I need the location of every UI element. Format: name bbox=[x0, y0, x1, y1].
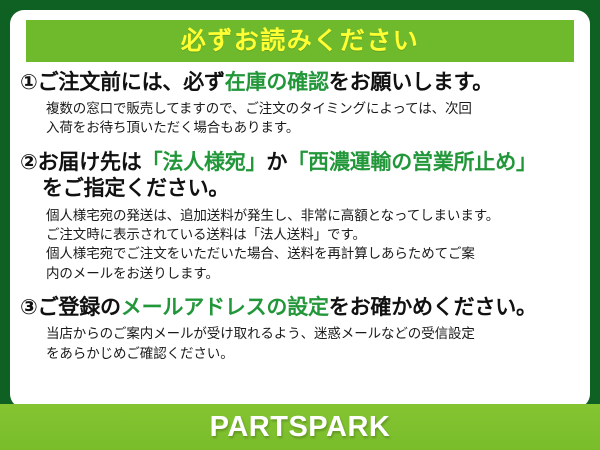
section-3-body: 当店からのご案内メールが受け取れるよう、迷惑メールなどの受信設定 をあらかじめご… bbox=[20, 324, 582, 362]
section-1-heading-highlight: 在庫の確認 bbox=[225, 71, 329, 94]
section-2-body: 個人様宅宛の発送は、追加送料が発生し、非常に高額となってしまいます。 ご注文時に… bbox=[20, 206, 582, 283]
section-1-heading-part-3: をお願いします。 bbox=[329, 71, 493, 94]
notice-banner: 必ずお読みください ①ご注文前には、必ず在庫の確認をお願いします。 複数の窓口で… bbox=[0, 0, 600, 450]
section-1-body: 複数の窓口で販売してますので、ご注文のタイミングによっては、次回 入荷をお待ち頂… bbox=[20, 99, 582, 137]
section-3-heading-highlight: メールアドレスの設定 bbox=[121, 296, 329, 319]
section-1-heading: ①ご注文前には、必ず在庫の確認をお願いします。 bbox=[20, 70, 582, 96]
brand-name: PARTSPARK bbox=[210, 411, 391, 444]
notice-card: 必ずお読みください ①ご注文前には、必ず在庫の確認をお願いします。 複数の窓口で… bbox=[10, 10, 590, 408]
brand-footer: PARTSPARK bbox=[0, 404, 600, 450]
notice-content: ①ご注文前には、必ず在庫の確認をお願いします。 複数の窓口で販売してますので、ご… bbox=[10, 68, 590, 365]
section-2-heading-highlight-1: 「法人様宛」 bbox=[142, 151, 267, 174]
notice-title-bar: 必ずお読みください bbox=[26, 20, 574, 62]
section-2-heading-highlight-2: 「西濃運輸の営業所止め」 bbox=[287, 151, 537, 174]
section-3-heading: ③ご登録のメールアドレスの設定をお確かめください。 bbox=[20, 295, 582, 321]
section-3-heading-part-3: をお確かめください。 bbox=[329, 296, 537, 319]
section-2-body-line-1: 個人様宅宛の発送は、追加送料が発生し、非常に高額となってしまいます。 bbox=[46, 206, 582, 225]
section-2-body-line-2: ご注文時に表示されている送料は「法人送料」です。 bbox=[46, 225, 582, 244]
section-1-marker: ① bbox=[20, 71, 38, 94]
section-2-body-line-4: 内のメールをお送りします。 bbox=[46, 264, 582, 283]
section-2-heading-part-1: お届け先は bbox=[38, 151, 142, 174]
section-2-marker: ② bbox=[20, 151, 38, 174]
section-2-heading: ②お届け先は「法人様宛」か「西濃運輸の営業所止め」 をご指定ください。 bbox=[20, 150, 582, 201]
section-2-heading-line-2: をご指定ください。 bbox=[20, 176, 582, 202]
notice-section-3: ③ご登録のメールアドレスの設定をお確かめください。 当店からのご案内メールが受け… bbox=[20, 295, 582, 363]
section-1-heading-part-1: ご注文前には、必ず bbox=[38, 71, 225, 94]
section-3-body-line-2: をあらかじめご確認ください。 bbox=[46, 344, 582, 363]
section-1-body-line-2: 入荷をお待ち頂いただく場合もあります。 bbox=[46, 118, 582, 137]
section-3-marker: ③ bbox=[20, 296, 38, 319]
section-3-heading-part-1: ご登録の bbox=[38, 296, 121, 319]
section-1-body-line-1: 複数の窓口で販売してますので、ご注文のタイミングによっては、次回 bbox=[46, 99, 582, 118]
notice-section-2: ②お届け先は「法人様宛」か「西濃運輸の営業所止め」 をご指定ください。 個人様宅… bbox=[20, 150, 582, 283]
section-2-heading-part-3: か bbox=[266, 151, 287, 174]
section-3-body-line-1: 当店からのご案内メールが受け取れるよう、迷惑メールなどの受信設定 bbox=[46, 324, 582, 343]
notice-title: 必ずお読みください bbox=[181, 29, 420, 54]
notice-section-1: ①ご注文前には、必ず在庫の確認をお願いします。 複数の窓口で販売してますので、ご… bbox=[20, 70, 582, 137]
section-2-body-line-3: 個人様宅宛でご注文をいただいた場合、送料を再計算しあらためてご案 bbox=[46, 244, 582, 263]
